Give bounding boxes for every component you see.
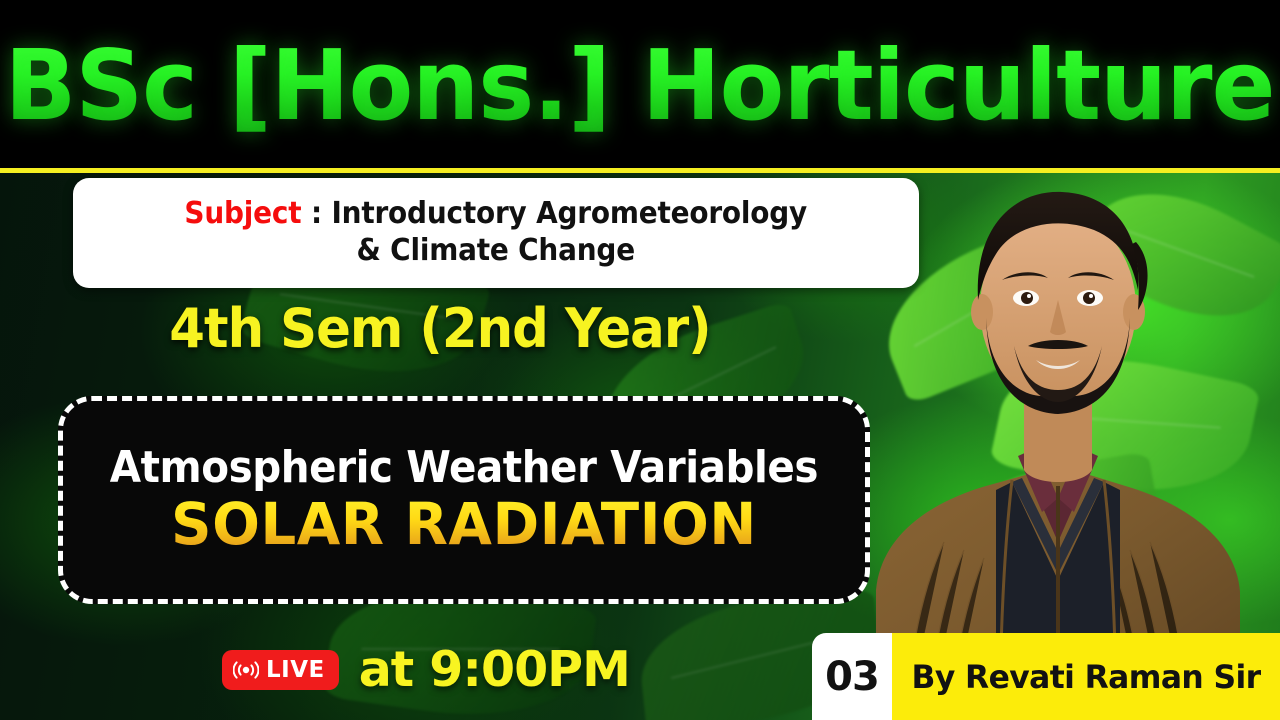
page-title: BSc [Hons.] Horticulture — [5, 37, 1275, 134]
presenter-bar: By Revati Raman Sir — [892, 633, 1280, 720]
semester-label: 4th Sem (2nd Year) — [22, 302, 858, 356]
live-badge[interactable]: LIVE — [222, 650, 339, 690]
live-label: LIVE — [266, 657, 325, 683]
video-thumbnail: BSc [Hons.] Horticulture Subject : Intro… — [0, 0, 1280, 720]
topic-category: Atmospheric Weather Variables — [110, 445, 818, 491]
subject-card: Subject : Introductory Agrometeorology &… — [73, 178, 919, 288]
topic-title: SOLAR RADIATION — [171, 494, 757, 555]
subject-separator: : — [302, 196, 332, 231]
header-divider — [0, 168, 1280, 173]
subject-name-line2: & Climate Change — [357, 233, 635, 268]
live-schedule-row: LIVE at 9:00PM — [222, 645, 630, 694]
episode-number-block: 03 — [812, 633, 892, 720]
presenter-name: By Revati Raman Sir — [912, 658, 1261, 696]
episode-number: 03 — [825, 654, 879, 700]
broadcast-icon — [233, 660, 259, 680]
subject-label: Subject — [185, 196, 302, 231]
subject-name-line1: Introductory Agrometeorology — [332, 196, 808, 231]
topic-box: Atmospheric Weather Variables SOLAR RADI… — [58, 396, 870, 604]
header-bar: BSc [Hons.] Horticulture — [0, 0, 1280, 170]
subject-text: Subject : Introductory Agrometeorology &… — [185, 196, 808, 269]
live-time: at 9:00PM — [359, 645, 630, 694]
